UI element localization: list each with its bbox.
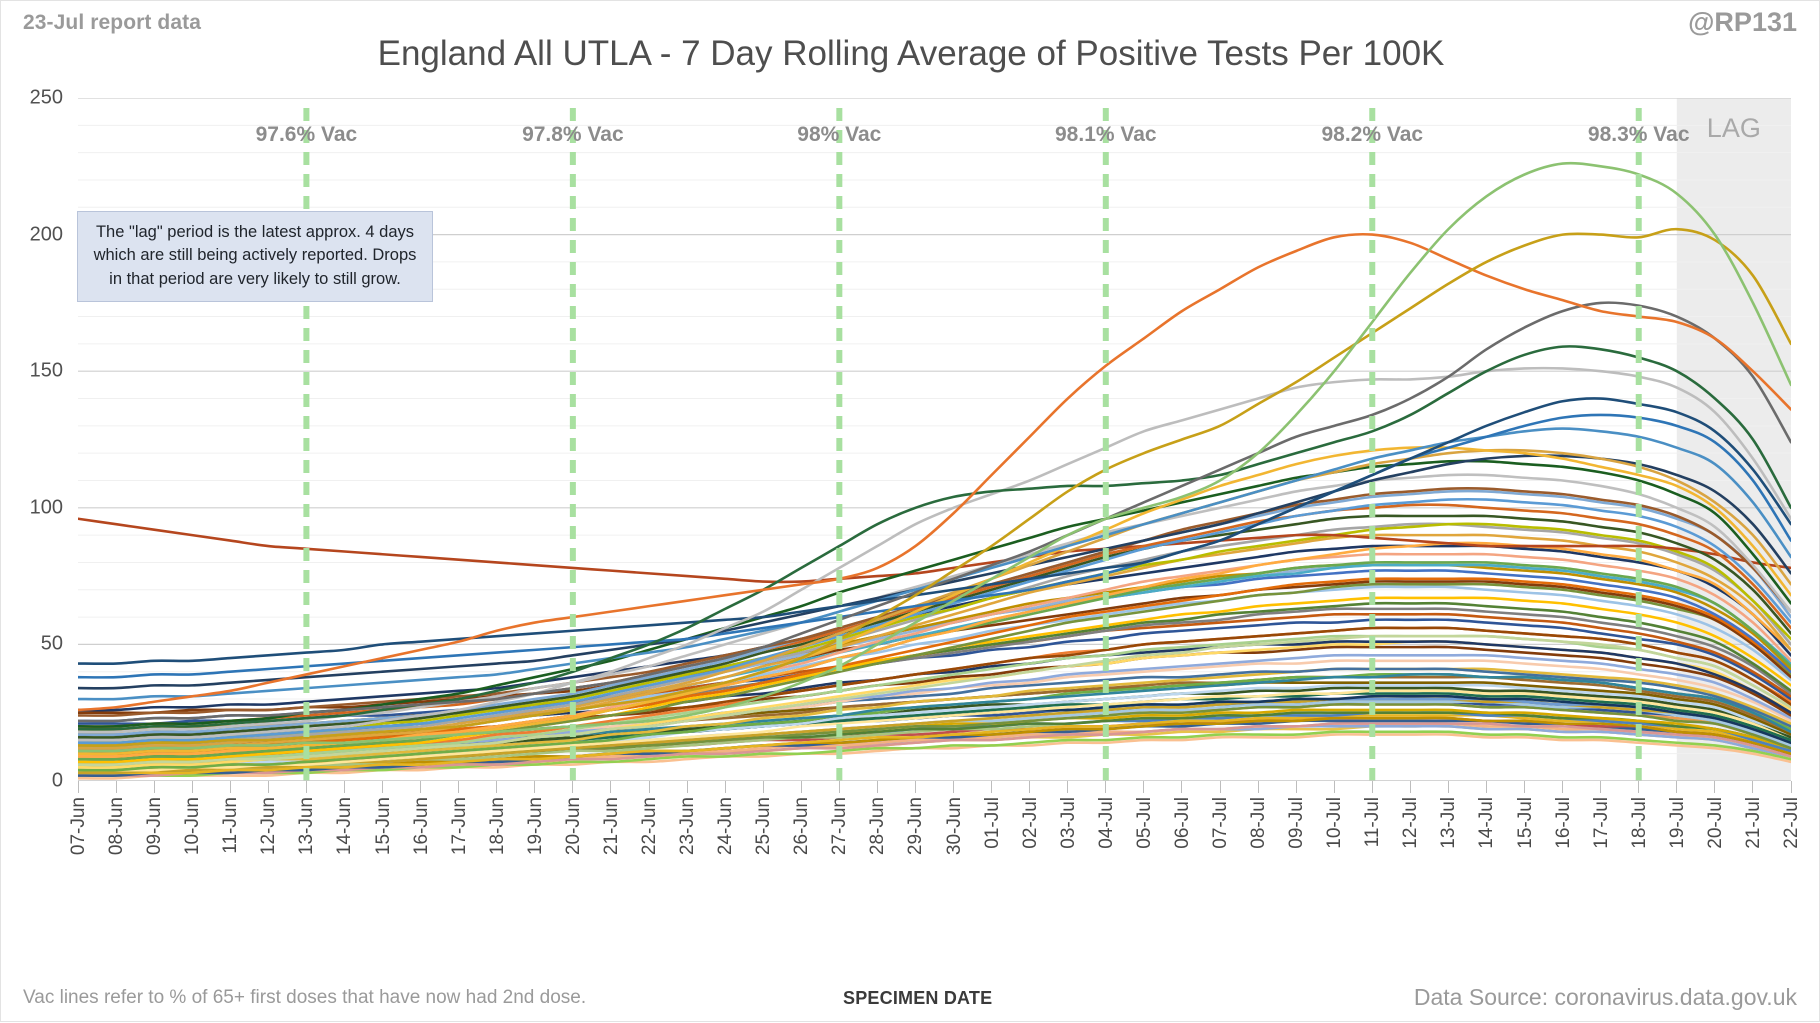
x-tick-mark [687, 781, 688, 793]
x-tick-mark [1105, 781, 1106, 793]
y-tick-label: 150 [1, 360, 63, 383]
x-tick-label: 10-Jun [182, 797, 204, 855]
x-tick-mark [116, 781, 117, 793]
x-tick-label: 03-Jul [1058, 797, 1080, 849]
x-tick-mark [192, 781, 193, 793]
x-tick-mark [1600, 781, 1601, 793]
x-tick-label: 21-Jul [1743, 797, 1765, 849]
x-tick-mark [1752, 781, 1753, 793]
x-tick-mark [154, 781, 155, 793]
x-tick-label: 04-Jul [1096, 797, 1118, 849]
x-tick-label: 11-Jun [220, 797, 242, 854]
x-tick-mark [78, 781, 79, 793]
x-tick-label: 19-Jul [1667, 797, 1689, 849]
x-tick-mark [1220, 781, 1221, 793]
x-tick-mark [1791, 781, 1792, 793]
x-tick-label: 13-Jul [1438, 797, 1460, 849]
x-tick-mark [915, 781, 916, 793]
x-tick-label: 30-Jun [944, 797, 966, 855]
report-stamp: 23-Jul report data [23, 11, 201, 35]
x-tick-mark [991, 781, 992, 793]
x-tick-mark [230, 781, 231, 793]
x-tick-label: 29-Jun [905, 797, 927, 855]
x-tick-label: 12-Jul [1400, 797, 1422, 849]
x-tick-label: 16-Jul [1553, 797, 1575, 849]
x-tick-mark [953, 781, 954, 793]
x-tick-mark [1714, 781, 1715, 793]
x-tick-mark [534, 781, 535, 793]
x-tick-mark [1410, 781, 1411, 793]
x-tick-label: 26-Jun [791, 797, 813, 855]
x-tick-label: 18-Jul [1629, 797, 1651, 849]
x-tick-mark [1067, 781, 1068, 793]
x-tick-mark [1562, 781, 1563, 793]
x-tick-label: 19-Jun [525, 797, 547, 855]
x-tick-label: 23-Jun [677, 797, 699, 855]
x-tick-mark [610, 781, 611, 793]
x-tick-mark [1029, 781, 1030, 793]
x-tick-label: 15-Jul [1515, 797, 1537, 849]
x-tick-mark [496, 781, 497, 793]
y-tick-label: 0 [1, 770, 63, 793]
x-tick-label: 09-Jun [144, 797, 166, 855]
x-tick-mark [1143, 781, 1144, 793]
x-tick-mark [649, 781, 650, 793]
x-tick-label: 01-Jul [982, 797, 1004, 849]
x-tick-mark [839, 781, 840, 793]
x-tick-mark [382, 781, 383, 793]
x-tick-label: 14-Jun [334, 797, 356, 855]
x-tick-mark [1258, 781, 1259, 793]
chart-plot-area [78, 98, 1791, 781]
y-tick-label: 50 [1, 633, 63, 656]
x-tick-mark [725, 781, 726, 793]
x-tick-label: 22-Jul [1781, 797, 1803, 849]
lag-callout: The "lag" period is the latest approx. 4… [77, 211, 433, 302]
x-tick-label: 22-Jun [639, 797, 661, 855]
x-tick-mark [877, 781, 878, 793]
x-tick-mark [306, 781, 307, 793]
x-tick-label: 20-Jul [1705, 797, 1727, 849]
x-tick-mark [763, 781, 764, 793]
x-tick-label: 17-Jul [1591, 797, 1613, 849]
x-tick-mark [1638, 781, 1639, 793]
x-tick-label: 10-Jul [1324, 797, 1346, 849]
x-tick-mark [1448, 781, 1449, 793]
x-axis-title: SPECIMEN DATE [843, 988, 992, 1009]
x-tick-label: 25-Jun [753, 797, 775, 855]
x-tick-label: 07-Jun [68, 797, 90, 855]
x-tick-label: 17-Jun [449, 797, 471, 855]
footer-vac-note: Vac lines refer to % of 65+ first doses … [23, 987, 586, 1009]
x-tick-label: 06-Jul [1172, 797, 1194, 849]
x-tick-mark [458, 781, 459, 793]
x-tick-label: 08-Jun [106, 797, 128, 855]
x-tick-mark [572, 781, 573, 793]
x-tick-mark [420, 781, 421, 793]
y-tick-label: 250 [1, 87, 63, 110]
x-tick-mark [1524, 781, 1525, 793]
x-tick-label: 21-Jun [601, 797, 623, 855]
x-tick-label: 15-Jun [373, 797, 395, 855]
x-tick-mark [801, 781, 802, 793]
x-tick-label: 28-Jun [867, 797, 889, 855]
x-tick-label: 09-Jul [1286, 797, 1308, 849]
x-tick-label: 20-Jun [563, 797, 585, 855]
x-tick-label: 24-Jun [715, 797, 737, 855]
x-tick-mark [1676, 781, 1677, 793]
x-tick-mark [1486, 781, 1487, 793]
x-tick-label: 18-Jun [487, 797, 509, 855]
y-tick-label: 200 [1, 223, 63, 246]
x-tick-label: 16-Jun [411, 797, 433, 855]
footer-data-source: Data Source: coronavirus.data.gov.uk [1414, 984, 1797, 1011]
x-tick-label: 08-Jul [1248, 797, 1270, 849]
lag-label: LAG [1707, 113, 1761, 144]
x-tick-mark [1372, 781, 1373, 793]
x-tick-mark [1296, 781, 1297, 793]
x-tick-label: 07-Jul [1210, 797, 1232, 849]
page-title: England All UTLA - 7 Day Rolling Average… [1, 34, 1820, 74]
y-tick-label: 100 [1, 496, 63, 519]
chart-svg [78, 98, 1791, 781]
x-tick-label: 14-Jul [1476, 797, 1498, 849]
x-tick-label: 13-Jun [296, 797, 318, 855]
x-tick-mark [1334, 781, 1335, 793]
x-tick-mark [268, 781, 269, 793]
x-tick-label: 05-Jul [1134, 797, 1156, 849]
x-tick-label: 02-Jul [1020, 797, 1042, 849]
chart-page: 23-Jul report data @RP131 England All UT… [0, 0, 1820, 1022]
x-tick-mark [1181, 781, 1182, 793]
x-tick-label: 27-Jun [829, 797, 851, 855]
x-tick-mark [344, 781, 345, 793]
x-tick-label: 11-Jul [1362, 797, 1384, 847]
x-tick-label: 12-Jun [258, 797, 280, 855]
